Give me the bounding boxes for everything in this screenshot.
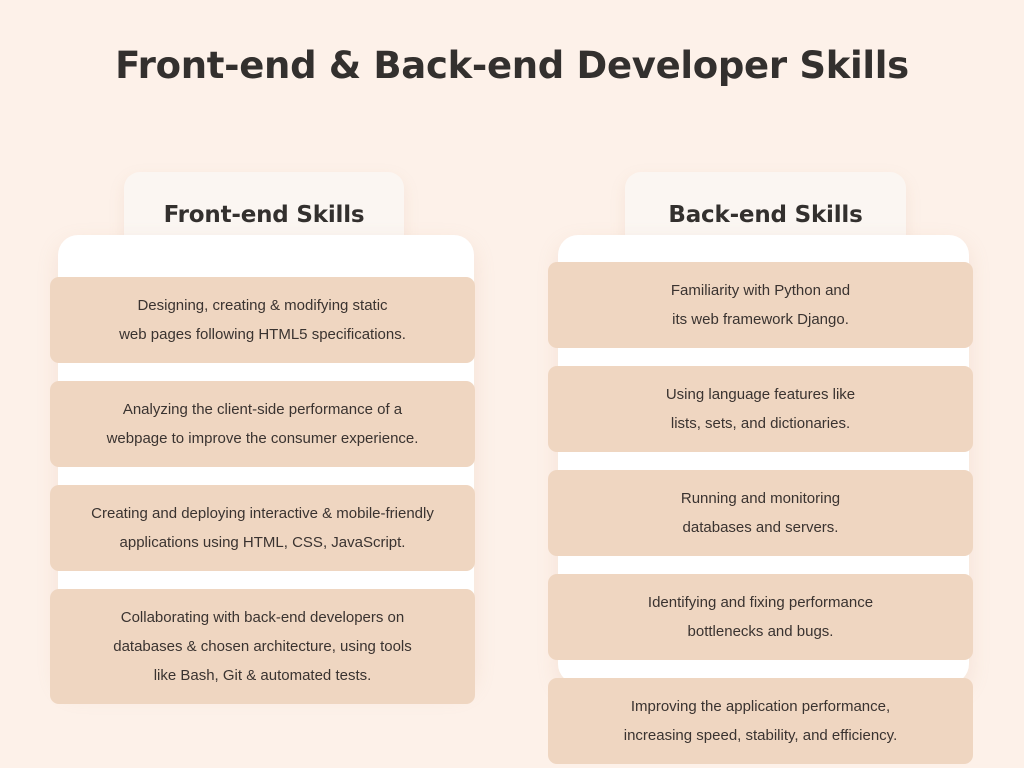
skill-line: lists, sets, and dictionaries. xyxy=(564,409,957,438)
infographic-page: Front-end & Back-end Developer Skills Fr… xyxy=(0,0,1024,768)
skill-item: Designing, creating & modifying staticwe… xyxy=(50,277,475,363)
skill-item: Improving the application performance,in… xyxy=(548,678,973,764)
column-header-label: Front-end Skills xyxy=(164,202,365,228)
skill-line: its web framework Django. xyxy=(564,305,957,334)
skill-line: databases and servers. xyxy=(564,513,957,542)
skill-line: bottlenecks and bugs. xyxy=(564,617,957,646)
skill-line: Creating and deploying interactive & mob… xyxy=(66,499,459,528)
skill-line: Running and monitoring xyxy=(564,484,957,513)
skill-item: Using language features likelists, sets,… xyxy=(548,366,973,452)
skill-line: Collaborating with back-end developers o… xyxy=(66,603,459,632)
skill-line: webpage to improve the consumer experien… xyxy=(66,424,459,453)
skill-item: Identifying and fixing performancebottle… xyxy=(548,574,973,660)
skill-line: Identifying and fixing performance xyxy=(564,588,957,617)
skill-list-front-end: Designing, creating & modifying staticwe… xyxy=(58,249,474,704)
skill-line: increasing speed, stability, and efficie… xyxy=(564,721,957,750)
skill-line: Using language features like xyxy=(564,380,957,409)
skill-item: Analyzing the client-side performance of… xyxy=(50,381,475,467)
skill-list-back-end: Familiarity with Python andits web frame… xyxy=(558,249,969,764)
skill-item: Collaborating with back-end developers o… xyxy=(50,589,475,704)
skill-item: Running and monitoringdatabases and serv… xyxy=(548,470,973,556)
skill-line: Designing, creating & modifying static xyxy=(66,291,459,320)
skill-item: Creating and deploying interactive & mob… xyxy=(50,485,475,571)
skill-line: Familiarity with Python and xyxy=(564,276,957,305)
column-header-label: Back-end Skills xyxy=(668,202,862,228)
skill-line: Analyzing the client-side performance of… xyxy=(66,395,459,424)
column-body-back-end: Familiarity with Python andits web frame… xyxy=(558,235,969,684)
skill-line: Improving the application performance, xyxy=(564,692,957,721)
skill-line: applications using HTML, CSS, JavaScript… xyxy=(66,528,459,557)
skill-line: databases & chosen architecture, using t… xyxy=(66,632,459,661)
page-title: Front-end & Back-end Developer Skills xyxy=(0,44,1024,87)
skill-line: web pages following HTML5 specifications… xyxy=(66,320,459,349)
skill-line: like Bash, Git & automated tests. xyxy=(66,661,459,690)
skill-item: Familiarity with Python andits web frame… xyxy=(548,262,973,348)
column-body-front-end: Designing, creating & modifying staticwe… xyxy=(58,235,474,686)
